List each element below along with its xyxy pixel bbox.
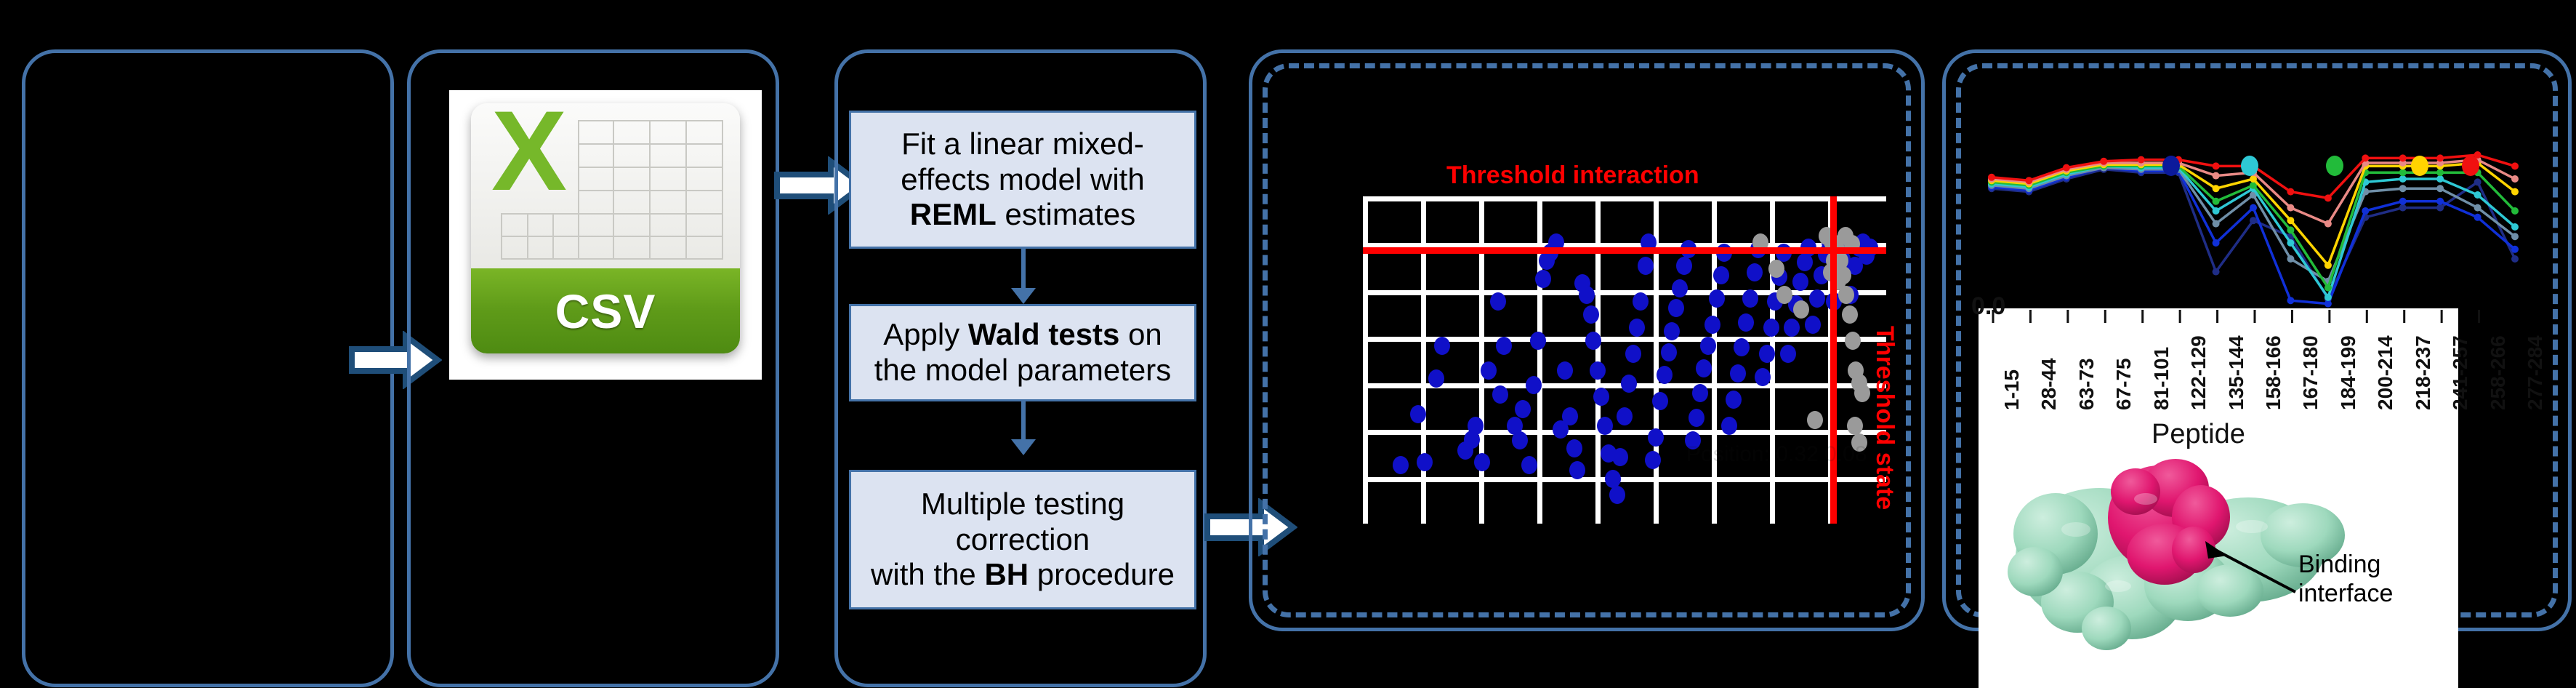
gridline-h bbox=[1363, 430, 1886, 435]
series-marker bbox=[2474, 178, 2482, 185]
bh-line1: Multiple testing bbox=[921, 487, 1124, 521]
scatter-point-significant bbox=[1721, 417, 1737, 435]
series-marker bbox=[2436, 198, 2444, 205]
scatter-point-significant bbox=[1704, 316, 1720, 334]
scatter-point-significant bbox=[1780, 345, 1796, 363]
fit-model-line1: Fit a linear mixed- bbox=[901, 127, 1144, 161]
series-marker bbox=[2287, 226, 2294, 233]
legend-dot-t4 bbox=[2462, 156, 2479, 176]
peptide-figure: 0.0 1-1528-4463-7367-7581-101122-129135-… bbox=[1963, 70, 2553, 688]
scatter-point-significant bbox=[1809, 289, 1825, 308]
series-marker bbox=[2436, 185, 2444, 192]
scatter-point-nonsignificant bbox=[1842, 305, 1858, 324]
scatter-point-significant bbox=[1526, 376, 1542, 394]
series-marker bbox=[2213, 198, 2220, 205]
series-marker bbox=[2436, 175, 2444, 183]
series-marker bbox=[2511, 162, 2519, 169]
scatter-point-significant bbox=[1474, 453, 1490, 471]
binding-label-line1: Binding bbox=[2298, 551, 2380, 578]
series-marker bbox=[2511, 233, 2519, 240]
scatter-point-significant bbox=[1492, 385, 1508, 404]
series-marker bbox=[2025, 177, 2032, 184]
scatter-point-significant bbox=[1612, 448, 1628, 466]
scatter-point-significant bbox=[1709, 289, 1725, 308]
scatter-point-significant bbox=[1530, 332, 1546, 350]
x-tick-label: 158-166 bbox=[2262, 335, 2285, 410]
series-marker bbox=[2399, 169, 2407, 176]
binding-label-line2: interface bbox=[2298, 580, 2393, 607]
scatter-point-significant bbox=[1629, 319, 1645, 337]
scatter-point-significant bbox=[1734, 338, 1750, 356]
series-marker bbox=[2362, 154, 2369, 161]
input-panel bbox=[22, 49, 394, 687]
scatter-point-significant bbox=[1738, 313, 1754, 332]
scatter-point-significant bbox=[1434, 337, 1450, 355]
bh-line2: correction bbox=[956, 522, 1090, 556]
x-tick-label: 67-75 bbox=[2112, 358, 2136, 410]
series-marker bbox=[2138, 156, 2145, 164]
gridline-h bbox=[1363, 196, 1886, 201]
series-marker bbox=[2399, 154, 2407, 161]
series-marker bbox=[2511, 223, 2519, 231]
csv-image-frame: X CSV bbox=[449, 90, 762, 380]
series-marker bbox=[2399, 185, 2407, 192]
scatter-point-significant bbox=[1569, 461, 1585, 479]
scatter-point-significant bbox=[1692, 384, 1708, 402]
x-tick-label: 200-214 bbox=[2374, 335, 2397, 410]
series-marker bbox=[2250, 204, 2257, 212]
x-tick-label: 184-199 bbox=[2337, 335, 2360, 410]
scatter-point-significant bbox=[1515, 400, 1531, 418]
fit-model-line2: effects model with bbox=[901, 162, 1144, 196]
scatter-point-nonsignificant bbox=[1845, 332, 1861, 350]
scatter-point-significant bbox=[1621, 375, 1637, 393]
scatter-point-significant bbox=[1689, 409, 1704, 427]
x-tick-label: 277-284 bbox=[2524, 335, 2547, 410]
bh-line3-pre: with the bbox=[871, 557, 984, 591]
scatter-point-significant bbox=[1428, 369, 1444, 388]
scatter-point-significant bbox=[1755, 368, 1771, 386]
scatter-point-significant bbox=[1393, 456, 1409, 474]
connector-1-2-arrowhead bbox=[1011, 288, 1036, 304]
scatter-point-nonsignificant bbox=[1807, 411, 1823, 429]
scatter-point-significant bbox=[1609, 486, 1625, 504]
threshold-state-line bbox=[1830, 196, 1837, 524]
series-marker bbox=[2063, 164, 2070, 172]
scatter-point-significant bbox=[1747, 263, 1763, 281]
scatter-point-significant bbox=[1585, 332, 1601, 350]
x-tick-label: 63-73 bbox=[2075, 358, 2098, 410]
series-marker bbox=[2213, 162, 2220, 169]
scatter-point-significant bbox=[1763, 319, 1779, 337]
legend-dot-t1 bbox=[2241, 156, 2258, 176]
scatter-point-significant bbox=[1512, 431, 1528, 449]
x-tick-label: 258-266 bbox=[2487, 335, 2510, 410]
wald-line2: the model parameters bbox=[874, 353, 1172, 387]
series-marker bbox=[2325, 284, 2332, 292]
scatter-point-significant bbox=[1759, 345, 1775, 363]
csv-label: CSV bbox=[555, 284, 656, 339]
series-marker bbox=[2511, 188, 2519, 196]
legend-dot-t3 bbox=[2411, 156, 2428, 176]
scatter-point-nonsignificant bbox=[1793, 300, 1809, 319]
series-marker bbox=[2362, 207, 2369, 215]
series-marker bbox=[2325, 262, 2332, 269]
scatter-point-significant bbox=[1805, 316, 1821, 334]
series-marker bbox=[2213, 207, 2220, 215]
x-axis-ticks bbox=[1979, 310, 2487, 327]
series-marker bbox=[2287, 188, 2294, 196]
connector-2-3-arrowhead bbox=[1011, 439, 1036, 455]
scatter-point-significant bbox=[1784, 319, 1800, 337]
scatter-point-significant bbox=[1617, 407, 1633, 425]
scatter-point-significant bbox=[1700, 337, 1716, 355]
series-marker bbox=[2436, 204, 2444, 212]
legend-dot-t2 bbox=[2326, 156, 2343, 176]
wald-pre: Apply bbox=[883, 317, 968, 351]
series-marker bbox=[2213, 220, 2220, 228]
fit-model-line3-rest: estimates bbox=[997, 197, 1135, 231]
series-marker bbox=[2511, 255, 2519, 263]
x-tick-label: 81-101 bbox=[2150, 347, 2173, 410]
series-marker bbox=[2287, 297, 2294, 304]
scatter-point-significant bbox=[1579, 286, 1595, 304]
scatter-point-significant bbox=[1521, 456, 1537, 474]
x-tick-label: 1-15 bbox=[2000, 369, 2024, 410]
x-tick-label: 28-44 bbox=[2037, 358, 2061, 410]
scatter-point-nonsignificant bbox=[1768, 260, 1784, 278]
x-tick-label: 135-144 bbox=[2225, 335, 2248, 410]
scatter-point-significant bbox=[1676, 257, 1692, 275]
scatter-point-significant bbox=[1696, 359, 1712, 377]
series-marker bbox=[2250, 217, 2257, 224]
process-box-wald-tests[interactable]: Apply Wald tests on the model parameters bbox=[849, 304, 1196, 401]
scatter-point-significant bbox=[1481, 361, 1497, 380]
scatter-point-nonsignificant bbox=[1847, 417, 1863, 435]
scatter-point-significant bbox=[1638, 257, 1654, 275]
gridline-h bbox=[1363, 477, 1886, 482]
scatter-point-significant bbox=[1496, 337, 1512, 355]
series-marker bbox=[2213, 185, 2220, 192]
process-box-fit-model[interactable]: Fit a linear mixed- effects model with R… bbox=[849, 111, 1196, 249]
series-marker bbox=[2511, 175, 2519, 183]
series-marker bbox=[2325, 294, 2332, 301]
series-marker bbox=[2325, 194, 2332, 201]
process-box-bh-correction[interactable]: Multiple testing correction with the BH … bbox=[849, 470, 1196, 609]
legend-dot-t0 bbox=[2162, 156, 2180, 176]
csv-spreadsheet-area: X bbox=[471, 103, 740, 268]
scatter-point-significant bbox=[1633, 292, 1649, 311]
series-marker bbox=[2287, 255, 2294, 263]
csv-file-icon: X CSV bbox=[471, 103, 740, 353]
scatter-point-significant bbox=[1410, 405, 1426, 423]
series-marker bbox=[1988, 174, 1995, 181]
series-marker bbox=[2511, 207, 2519, 215]
scatter-point-significant bbox=[1657, 366, 1673, 384]
threshold-interaction-line bbox=[1363, 247, 1886, 254]
series-marker bbox=[2474, 214, 2482, 221]
scatter-point-significant bbox=[1417, 453, 1433, 471]
scatter-point-significant bbox=[1557, 361, 1573, 380]
bh-line3-post: procedure bbox=[1029, 557, 1175, 591]
volcano-scatter-plot bbox=[1363, 196, 1886, 524]
scatter-point-significant bbox=[1742, 289, 1758, 308]
series-marker bbox=[2436, 154, 2444, 161]
scatter-point-significant bbox=[1661, 343, 1677, 361]
x-tick-label: 218-237 bbox=[2412, 335, 2435, 410]
series-marker bbox=[2213, 239, 2220, 247]
faint-axis-text: Position: 0.32 0.08 bbox=[1686, 442, 1867, 467]
series-marker bbox=[2399, 198, 2407, 205]
scatter-point-significant bbox=[1668, 299, 1684, 317]
series-marker bbox=[2287, 217, 2294, 224]
threshold-state-label: Threshold state bbox=[1870, 326, 1899, 510]
scatter-point-significant bbox=[1535, 270, 1551, 288]
series-marker bbox=[2436, 169, 2444, 176]
peptide-axis-title: Peptide bbox=[2152, 419, 2245, 450]
gridline-h bbox=[1363, 290, 1886, 295]
series-marker bbox=[2325, 300, 2332, 308]
scatter-point-significant bbox=[1590, 361, 1606, 380]
series-marker bbox=[2474, 204, 2482, 212]
x-tick-label: 241-257 bbox=[2449, 335, 2472, 410]
bh-bold: BH bbox=[984, 557, 1029, 591]
series-marker bbox=[2287, 239, 2294, 247]
fit-model-reml: REML bbox=[910, 197, 997, 231]
scatter-point-significant bbox=[1645, 451, 1661, 469]
series-marker bbox=[2100, 158, 2107, 165]
series-marker bbox=[2325, 220, 2332, 228]
series-marker bbox=[2474, 191, 2482, 199]
x-tick-label: 167-180 bbox=[2299, 335, 2322, 410]
scatter-point-nonsignificant bbox=[1854, 384, 1870, 402]
scatter-point-significant bbox=[1730, 364, 1746, 383]
wald-bold: Wald tests bbox=[968, 317, 1119, 351]
scatter-point-significant bbox=[1583, 305, 1599, 324]
wald-post: on bbox=[1119, 317, 1162, 351]
scatter-point-significant bbox=[1593, 388, 1609, 406]
series-marker bbox=[2213, 268, 2220, 276]
series-marker bbox=[2399, 175, 2407, 183]
scatter-point-significant bbox=[1490, 292, 1506, 311]
scatter-point-significant bbox=[1566, 439, 1582, 457]
scatter-point-significant bbox=[1792, 273, 1808, 291]
scatter-point-significant bbox=[1648, 428, 1664, 447]
scatter-point-significant bbox=[1713, 266, 1729, 284]
threshold-interaction-title: Threshold interaction bbox=[1446, 161, 1699, 190]
scatter-point-significant bbox=[1726, 391, 1742, 409]
scatter-point-significant bbox=[1625, 345, 1641, 363]
scatter-point-significant bbox=[1597, 417, 1613, 435]
csv-label-band: CSV bbox=[471, 268, 740, 353]
series-marker bbox=[2287, 204, 2294, 212]
binding-interface-label: Binding interface bbox=[2298, 550, 2393, 608]
series-marker bbox=[2399, 204, 2407, 212]
scatter-point-significant bbox=[1562, 407, 1578, 425]
csv-x-letter: X bbox=[491, 108, 567, 196]
x-tick-label: 122-129 bbox=[2187, 335, 2210, 410]
series-marker bbox=[2213, 172, 2220, 180]
scatter-point-significant bbox=[1664, 322, 1680, 340]
series-marker bbox=[2511, 246, 2519, 253]
scatter-point-significant bbox=[1468, 417, 1484, 435]
scatter-point-significant bbox=[1652, 392, 1668, 410]
